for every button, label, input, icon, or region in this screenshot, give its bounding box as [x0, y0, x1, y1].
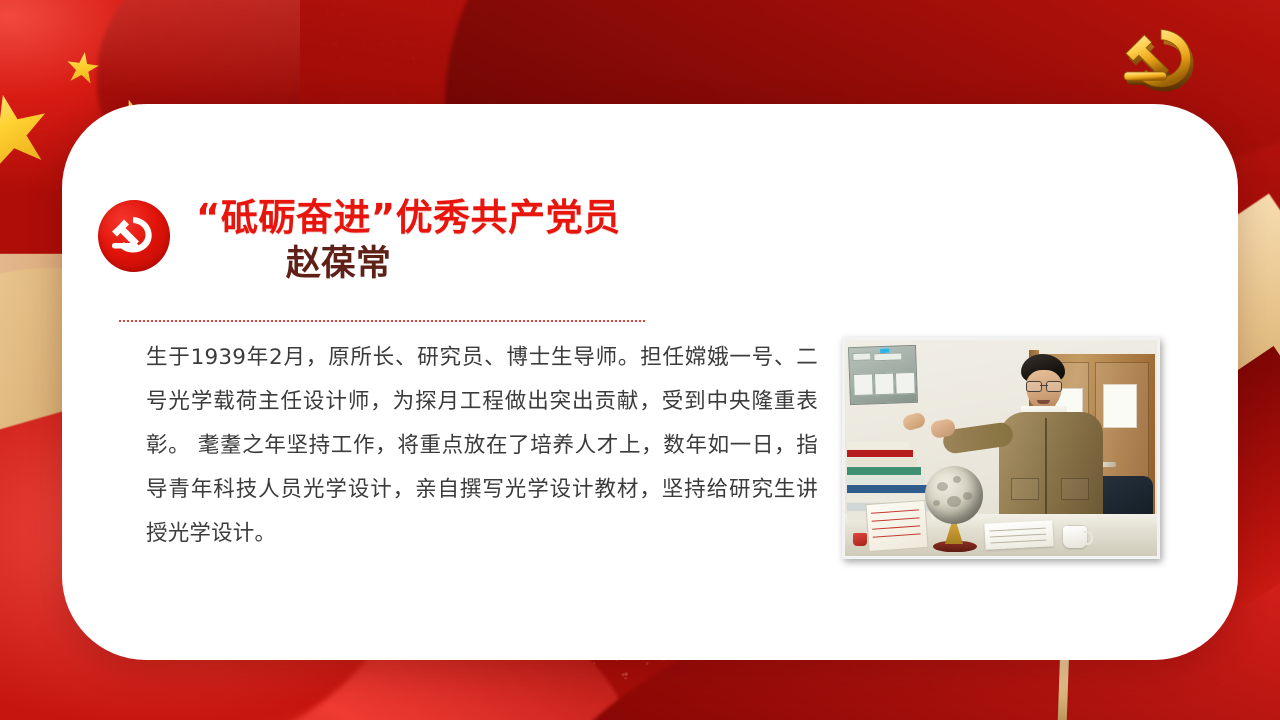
jacket-pocket-right [1061, 478, 1089, 500]
portrait-photo [842, 337, 1160, 559]
rack-line-2 [872, 517, 920, 521]
book-6 [847, 467, 921, 475]
door-notice-2 [1103, 384, 1137, 428]
switch-1 [852, 352, 871, 361]
rack-line-4 [873, 533, 921, 537]
page-title: “砥砺奋进”优秀共产党员 [196, 198, 621, 238]
photo-scene [845, 340, 1157, 556]
socket-2 [874, 373, 895, 396]
crater-5 [933, 500, 940, 506]
switch-2 [873, 352, 902, 361]
jacket-zipper [1045, 418, 1047, 522]
biography-paragraph: 生于1939年2月，原所长、研究员、博士生导师。担任嫦娥一号、二号光学载荷主任设… [146, 336, 818, 556]
socket-1 [853, 373, 874, 396]
paper-rack-icon [865, 500, 928, 552]
red-cup-icon [853, 533, 867, 546]
book-4 [847, 485, 931, 493]
lens-left [1026, 381, 1042, 392]
man-mouth [1037, 400, 1050, 404]
crater-4 [963, 492, 972, 500]
notebook-line-1 [990, 528, 1046, 532]
rack-line-1 [871, 509, 919, 513]
man-jacket [999, 412, 1103, 528]
title-block: “砥砺奋进”优秀共产党员 赵葆常 [196, 196, 621, 283]
rack-line-3 [872, 525, 920, 529]
hammer-and-sickle-gold-icon [1114, 22, 1208, 96]
person-name: 赵葆常 [196, 244, 621, 283]
slide-root: “砥砺奋进”优秀共产党员 赵葆常 生于1939年2月，原所长、研究员、博士生导师… [0, 0, 1280, 720]
dotted-divider [118, 320, 646, 322]
socket-3 [895, 372, 916, 395]
crater-1 [937, 482, 948, 491]
lens-right [1046, 381, 1062, 392]
open-notebook-icon [984, 520, 1053, 550]
book-9 [847, 442, 909, 449]
elderly-man-figure [995, 354, 1103, 526]
hammer-and-sickle-white-icon [98, 200, 170, 272]
header-row: “砥砺奋进”优秀共产党员 赵葆常 [98, 196, 758, 283]
notebook-line-2 [990, 534, 1046, 538]
white-mug-icon [1063, 526, 1087, 548]
wall-socket-panel-icon [848, 345, 918, 405]
notebook-line-3 [990, 540, 1046, 544]
book-5 [847, 476, 925, 484]
glasses-icon [1025, 381, 1063, 391]
crater-3 [947, 496, 961, 507]
jacket-pocket-left [1011, 478, 1039, 500]
book-7 [847, 458, 917, 466]
lunar-globe-icon [925, 466, 983, 524]
content-card: “砥砺奋进”优秀共产党员 赵葆常 生于1939年2月，原所长、研究员、博士生导师… [62, 104, 1238, 660]
glasses-bridge [1040, 385, 1048, 386]
crater-2 [953, 476, 961, 483]
book-8 [847, 450, 913, 457]
